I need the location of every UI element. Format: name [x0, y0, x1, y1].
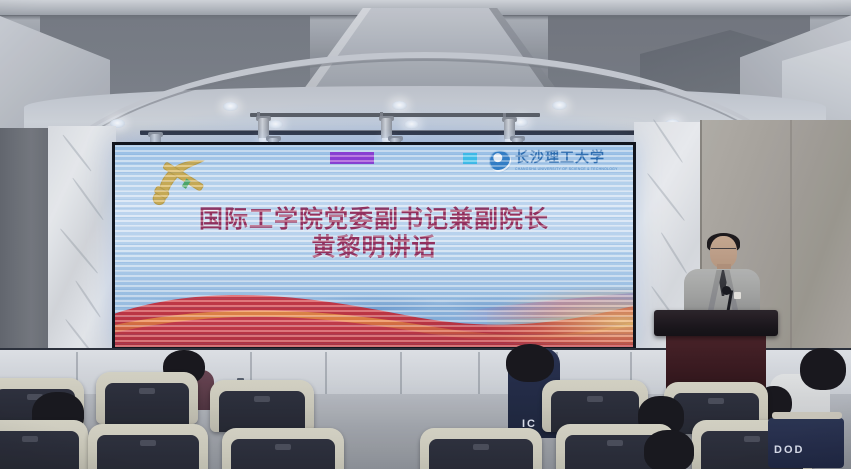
university-logo-mark [489, 150, 511, 172]
university-logo: 长沙理工大学 CHANGSHA UNIVERSITY OF SCIENCE & … [489, 148, 627, 174]
stage-panel-seam [400, 352, 402, 396]
wall-left-marble-panel [48, 126, 116, 378]
slide-title: 国际工学院党委副书记兼副院长 黄黎明讲话 [115, 205, 633, 262]
slide-title-line-2: 黄黎明讲话 [115, 233, 633, 261]
cyan-tile [463, 153, 477, 164]
cpc-hammer-sickle-emblem [151, 153, 215, 207]
university-name-cn: 长沙理工大学 [515, 151, 618, 165]
slide-title-line-1: 国际工学院党委副书记兼副院长 [115, 205, 633, 233]
lecture-hall-photo: 长沙理工大学 CHANGSHA UNIVERSITY OF SCIENCE & … [0, 0, 851, 469]
theater-seat [88, 424, 208, 469]
theater-seat [222, 428, 344, 469]
microphone-head [722, 286, 731, 295]
seated-person-head [644, 430, 694, 469]
presenter-glasses [711, 248, 736, 254]
lighting-track-upper [250, 113, 540, 117]
stage-panel-seam [478, 352, 480, 396]
tote-bag-text: DOD [774, 444, 804, 456]
wall-right-seam-outer [790, 120, 792, 378]
tote-bag-strap [772, 412, 842, 419]
theater-seat [96, 372, 198, 424]
stage-panel-seam [325, 352, 327, 396]
downlight [223, 102, 238, 111]
theater-seat [420, 428, 542, 469]
podium-top [654, 310, 778, 336]
slide-wave-glow [487, 287, 633, 345]
university-name-en: CHANGSHA UNIVERSITY OF SCIENCE & TECHNOL… [515, 167, 618, 171]
downlight [392, 101, 407, 110]
presenter-at-podium [684, 236, 760, 316]
presenter-name-badge [734, 292, 741, 299]
led-display-wall: 长沙理工大学 CHANGSHA UNIVERSITY OF SCIENCE & … [112, 142, 636, 350]
downlight [404, 120, 419, 129]
downlight [552, 101, 567, 110]
wall-left-dark-panel [0, 128, 52, 378]
seated-person-hair [506, 344, 554, 382]
led-screen-content: 长沙理工大学 CHANGSHA UNIVERSITY OF SCIENCE & … [115, 145, 633, 347]
navy-tote-bag [768, 418, 844, 468]
purple-tile [330, 152, 374, 164]
theater-seat [210, 380, 314, 432]
theater-seat [0, 420, 88, 469]
seated-person-hair [800, 348, 846, 390]
downlight [268, 120, 283, 129]
